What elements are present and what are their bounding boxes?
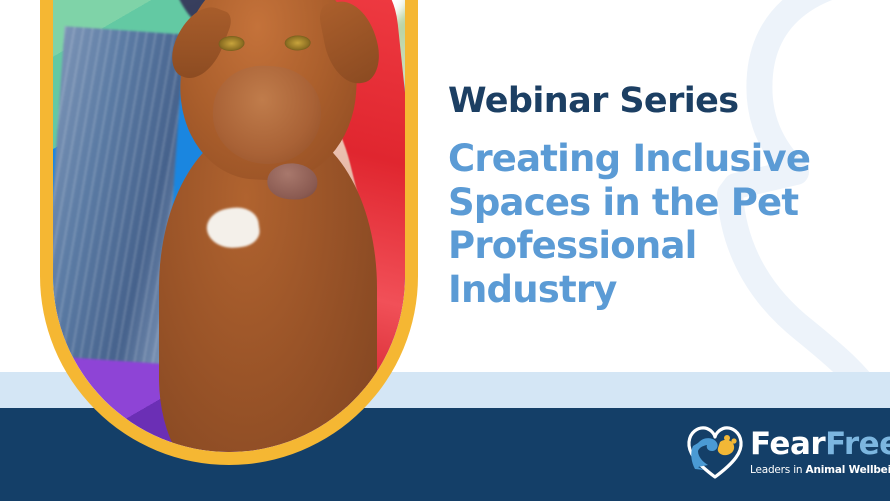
webinar-promo-slide: Webinar Series Creating Inclusive Spaces…: [0, 0, 890, 501]
series-kicker: Webinar Series: [448, 84, 848, 119]
logo-word-fear: Fear: [750, 426, 825, 462]
dog-eye-right: [285, 35, 311, 50]
fear-free-heart-paw-icon: [686, 424, 744, 480]
dog-muzzle: [210, 63, 323, 167]
page-title: Creating Inclusive Spaces in the Pet Pro…: [448, 137, 833, 312]
title-block: Webinar Series Creating Inclusive Spaces…: [448, 84, 848, 312]
dog-eye-left: [218, 35, 245, 51]
dog-nose: [267, 162, 319, 201]
dog-illustration: [141, 0, 391, 452]
logo-word-free: Free: [825, 426, 890, 462]
logo-wordmark: FearFree™ Leaders in Animal Wellbeing: [750, 429, 890, 476]
logo-tagline-bold: Animal Wellbeing: [806, 464, 890, 476]
logo-word-row: FearFree™: [750, 429, 890, 460]
dog-photo-frame: [40, 0, 418, 465]
fear-free-logo[interactable]: FearFree™ Leaders in Animal Wellbeing: [686, 421, 882, 483]
logo-tagline-plain: Leaders in: [750, 464, 806, 476]
logo-tagline: Leaders in Animal Wellbeing: [750, 464, 890, 476]
dog-photo: [53, 0, 405, 452]
dog-ear-right: [317, 0, 384, 88]
